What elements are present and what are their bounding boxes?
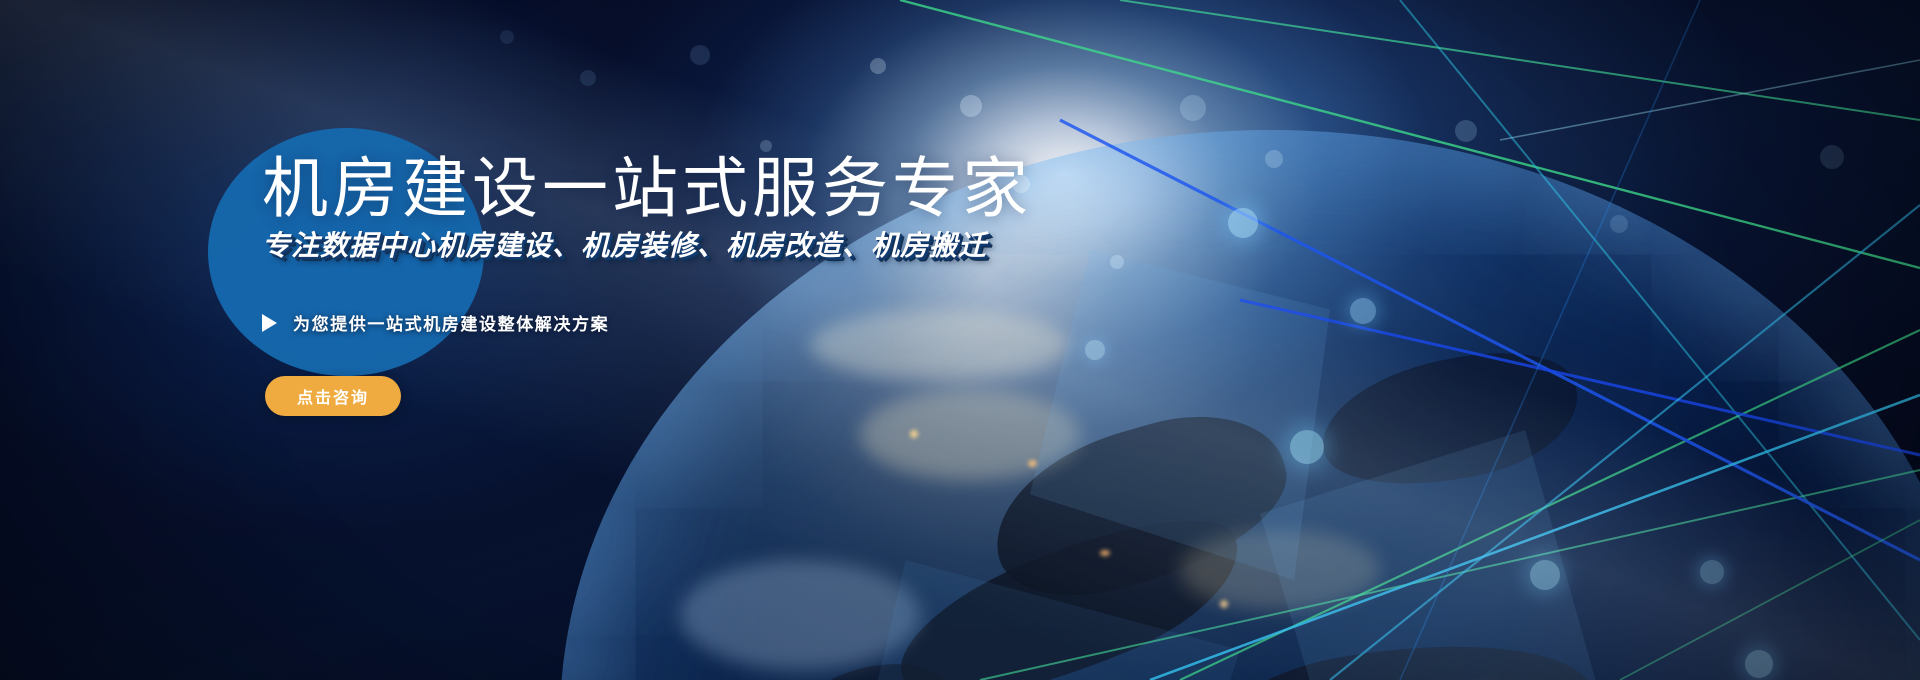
hero-banner: 机房建设一站式服务专家 专注数据中心机房建设、机房装修、机房改造、机房搬迁 为您…	[0, 0, 1920, 680]
play-triangle-icon	[262, 314, 277, 332]
subtitle: 专注数据中心机房建设、机房装修、机房改造、机房搬迁	[262, 232, 987, 260]
page-title: 机房建设一站式服务专家	[262, 155, 1032, 221]
tagline: 为您提供一站式机房建设整体解决方案	[262, 310, 609, 335]
tagline-label: 为您提供一站式机房建设整体解决方案	[293, 310, 609, 335]
consult-button[interactable]: 点击咨询	[265, 376, 401, 416]
